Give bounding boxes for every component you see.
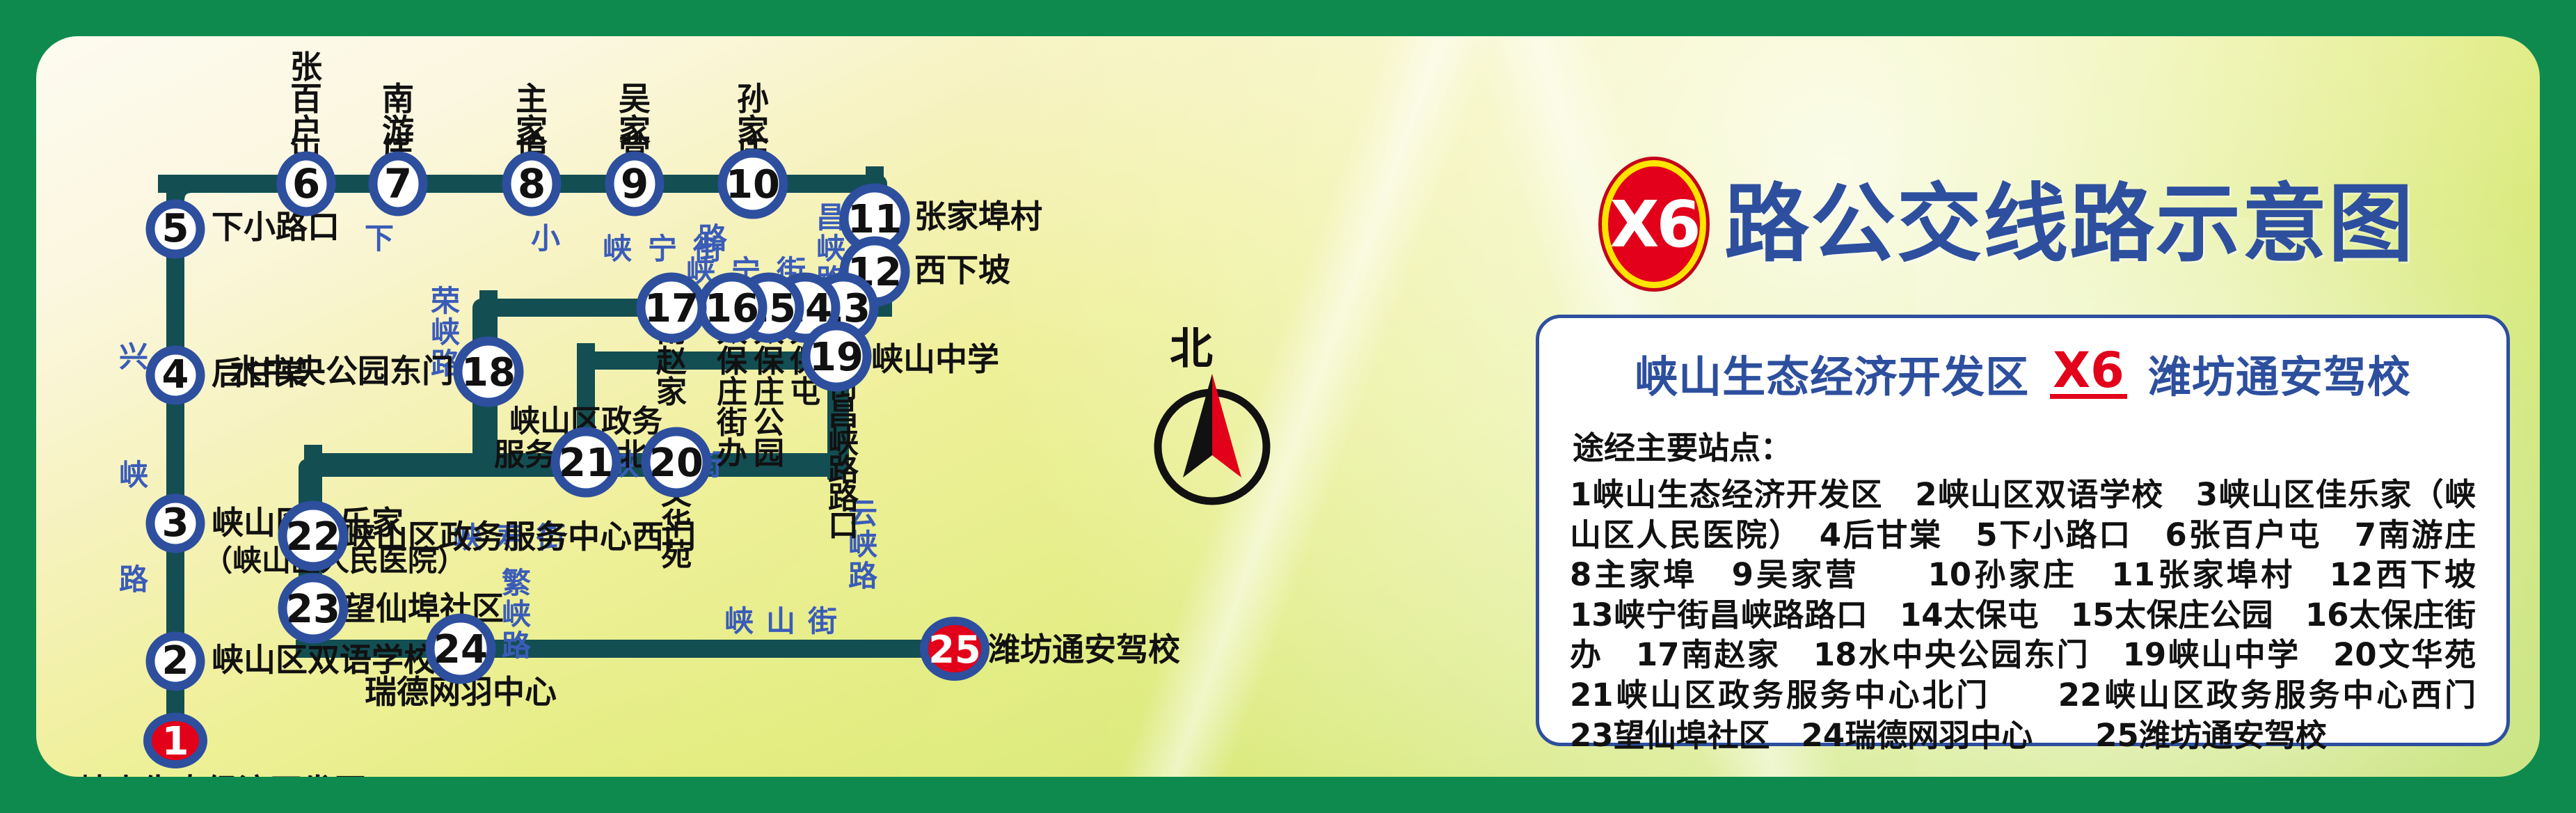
- street-label-xiaxiao-1: 下: [365, 221, 394, 255]
- station-name-18: 水中央公园东门: [230, 352, 454, 390]
- street-label-xiashan-1: 峡: [724, 604, 754, 638]
- svg-text:口: 口: [828, 508, 859, 544]
- street-label-xingxia-3: 路: [119, 562, 149, 597]
- svg-text:21: 21: [559, 441, 613, 486]
- station-marker-24[interactable]: 24: [430, 618, 491, 679]
- svg-text:家: 家: [656, 374, 687, 410]
- station-marker-4[interactable]: 4: [150, 350, 200, 400]
- route-destination: 潍坊通安驾校: [2148, 342, 2411, 404]
- station-name-19: 峡山中学: [871, 340, 999, 378]
- svg-text:园: 园: [754, 436, 784, 471]
- station-name-12: 西下坡: [914, 251, 1010, 289]
- svg-text:24: 24: [434, 627, 488, 672]
- route-badge-label: X6: [1610, 187, 1699, 262]
- svg-text:8: 8: [518, 160, 546, 207]
- svg-text:17: 17: [644, 286, 699, 331]
- street-label-fanxia-3: 路: [502, 629, 532, 663]
- station-marker-20[interactable]: 20: [646, 432, 707, 493]
- station-marker-17[interactable]: 17: [641, 277, 702, 338]
- station-marker-8[interactable]: 8: [507, 156, 557, 212]
- station-names: 峡山生态经济开发区 峡山区双语学校 峡山区佳乐家 （峡山区人民医院） 后甘棠 下…: [78, 198, 1180, 777]
- street-label-xianing-6: 街: [692, 232, 722, 266]
- svg-text:6: 6: [292, 160, 320, 207]
- street-label-xingxia-1: 兴: [119, 340, 148, 374]
- svg-text:11: 11: [848, 197, 902, 242]
- station-marker-7[interactable]: 7: [373, 156, 423, 212]
- svg-text:16: 16: [705, 286, 759, 331]
- svg-text:5: 5: [162, 206, 189, 251]
- station-name-6: 张百户屯: [290, 48, 322, 169]
- svg-text:23: 23: [286, 587, 340, 632]
- station-marker-16[interactable]: 16: [701, 277, 763, 338]
- station-marker-2[interactable]: 2: [150, 636, 200, 686]
- street-label-yunxia-3: 路: [848, 559, 878, 593]
- station-marker-10[interactable]: 10: [722, 153, 784, 214]
- stops-list-text: 1峡山生态经济开发区 2峡山区双语学校 3峡山区佳乐家（峡山区人民医院） 4后甘…: [1570, 475, 2476, 755]
- route-badge-title: X6: [1602, 160, 1706, 288]
- route-origin: 峡山生态经济开发区: [1635, 342, 2029, 404]
- station-names-vertical-top: 张百户屯 南游庄 主家埠 吴家营 孙家庄: [290, 48, 769, 169]
- station-name-25: 潍坊通安驾校: [988, 631, 1180, 668]
- svg-text:10: 10: [726, 162, 780, 207]
- svg-text:2: 2: [162, 638, 189, 684]
- station-name-11: 张家埠村: [914, 198, 1042, 235]
- station-marker-1[interactable]: 1: [148, 717, 203, 764]
- north-arrow-icon: [1158, 374, 1266, 501]
- svg-text:苑: 苑: [661, 537, 692, 573]
- station-marker-18[interactable]: 18: [458, 341, 519, 402]
- station-marker-9[interactable]: 9: [610, 156, 660, 212]
- station-marker-25[interactable]: 25: [924, 621, 985, 677]
- route-map-poster: 兴 峡 路 下 小 路 昌 峡 路 峡 宁 街 峡 宁 街 荣 峡: [0, 0, 2576, 813]
- svg-text:9: 9: [621, 160, 649, 207]
- street-label-xianing-4: 峡: [603, 232, 632, 266]
- station-marker-21[interactable]: 21: [555, 432, 617, 493]
- street-label-fanxia-1: 繁: [502, 566, 531, 600]
- svg-text:办: 办: [717, 436, 747, 471]
- station-marker-6[interactable]: 6: [281, 156, 331, 212]
- street-label-xianing-5: 宁: [648, 232, 677, 266]
- street-label-xiaxiao-2: 小: [531, 221, 560, 255]
- poster-title: X6 路公交线路示意图: [1602, 160, 2415, 288]
- svg-text:25: 25: [928, 628, 980, 672]
- street-label-xiashan-3: 街: [807, 604, 837, 638]
- street-label-xiashan-2: 山: [766, 604, 795, 638]
- street-label-changxia-2: 峡: [816, 232, 845, 266]
- station-marker-19[interactable]: 19: [806, 326, 867, 387]
- stops-heading: 途经主要站点：: [1573, 423, 2476, 468]
- svg-text:20: 20: [649, 441, 703, 486]
- svg-text:22: 22: [286, 514, 340, 560]
- svg-text:19: 19: [809, 335, 864, 380]
- station-name-22: 峡山区政务服务中心西门: [344, 518, 696, 555]
- route-endpoints-header: 峡山生态经济开发区 X6 潍坊通安驾校: [1570, 342, 2476, 404]
- svg-text:7: 7: [384, 160, 412, 207]
- street-label-xingxia-2: 峡: [119, 458, 148, 492]
- station-name-1: 峡山生态经济开发区: [78, 772, 366, 777]
- svg-text:18: 18: [461, 350, 516, 395]
- station-name-5: 下小路口: [212, 208, 340, 246]
- svg-text:4: 4: [162, 352, 189, 397]
- station-marker-22[interactable]: 22: [283, 505, 344, 567]
- station-marker-5[interactable]: 5: [150, 204, 200, 254]
- compass-label: 北: [1170, 323, 1213, 374]
- svg-text:1: 1: [162, 719, 189, 764]
- route-badge-inline: X6: [2050, 347, 2127, 399]
- street-label-rongxia-1: 荣: [431, 284, 460, 318]
- title-text: 路公交线路示意图: [1724, 182, 2415, 267]
- map-canvas: 兴 峡 路 下 小 路 昌 峡 路 峡 宁 街 峡 宁 街 荣 峡: [36, 36, 2540, 777]
- station-marker-23[interactable]: 23: [283, 578, 344, 639]
- street-label-rongxia-2: 峡: [431, 315, 460, 349]
- route-info-panel: 峡山生态经济开发区 X6 潍坊通安驾校 途经主要站点： 1峡山生态经济开发区 2…: [1536, 315, 2510, 746]
- station-marker-3[interactable]: 3: [150, 498, 200, 548]
- svg-text:3: 3: [162, 500, 189, 546]
- street-label-fanxia-2: 峡: [502, 597, 531, 631]
